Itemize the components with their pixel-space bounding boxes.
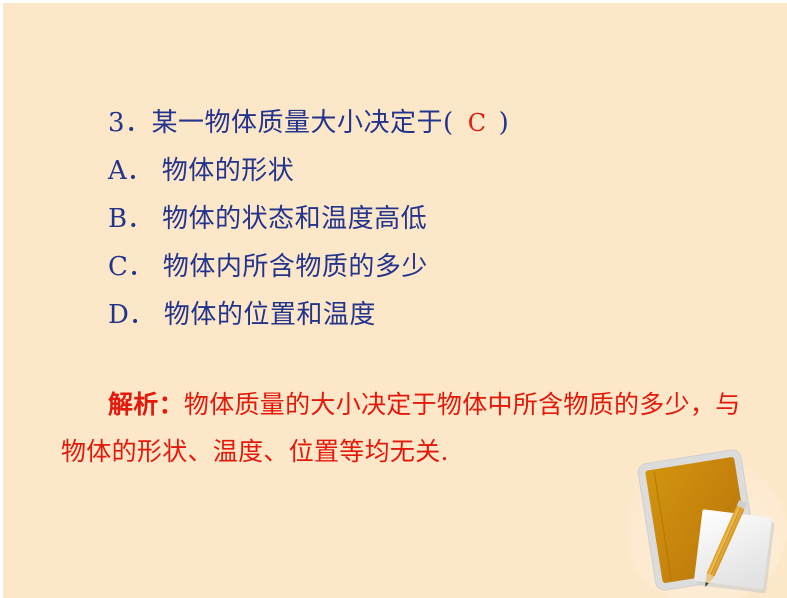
option-a-tag: A．: [108, 156, 153, 186]
question-close-paren: ): [499, 108, 510, 138]
explanation-label: 解析：: [108, 390, 184, 419]
question-stem-text: 某一物体质量大小决定于(: [152, 108, 454, 138]
pencil-ferrule: [737, 500, 747, 509]
question-stem-line: 3．某一物体质量大小决定于(C): [108, 99, 748, 147]
option-d-tag: D．: [108, 300, 155, 330]
option-a: A．物体的形状: [108, 147, 748, 195]
paper-sheet: [694, 509, 772, 589]
option-b: B．物体的状态和温度高低: [108, 195, 748, 243]
notebook-spine-line: [654, 471, 671, 580]
answer-letter: C: [454, 109, 499, 137]
artwork-glow: [627, 456, 787, 598]
option-d-text: 物体的位置和温度: [164, 300, 376, 330]
explanation-line-2: 物体的形状、温度、位置等均无关.: [61, 437, 449, 466]
slide-canvas: 3．某一物体质量大小决定于(C) A．物体的形状 B．物体的状态和温度高低 C．…: [3, 3, 787, 598]
option-a-text: 物体的形状: [162, 156, 295, 186]
pencil-tip-wood: [701, 573, 714, 588]
option-c: C．物体内所含物质的多少: [108, 243, 748, 291]
pencil-tip-lead: [704, 582, 709, 587]
option-d: D．物体的位置和温度: [108, 291, 748, 339]
question-number: 3．: [108, 108, 152, 138]
pencil-body: [707, 506, 745, 577]
question-block: 3．某一物体质量大小决定于(C) A．物体的形状 B．物体的状态和温度高低 C．…: [108, 99, 748, 339]
option-c-text: 物体内所含物质的多少: [163, 252, 428, 282]
option-c-tag: C．: [108, 252, 154, 282]
explanation-block: 解析：物体质量的大小决定于物体中所含物质的多少，与物体的形状、温度、位置等均无关…: [61, 381, 751, 475]
notebook-cover: [645, 457, 752, 584]
option-b-text: 物体的状态和温度高低: [162, 204, 427, 234]
paper-shadow: [696, 514, 774, 594]
explanation-line-1: 物体质量的大小决定于物体中所含物质的多少，与: [184, 390, 741, 419]
option-b-tag: B．: [108, 204, 153, 234]
pencil-stripe: [710, 507, 742, 575]
